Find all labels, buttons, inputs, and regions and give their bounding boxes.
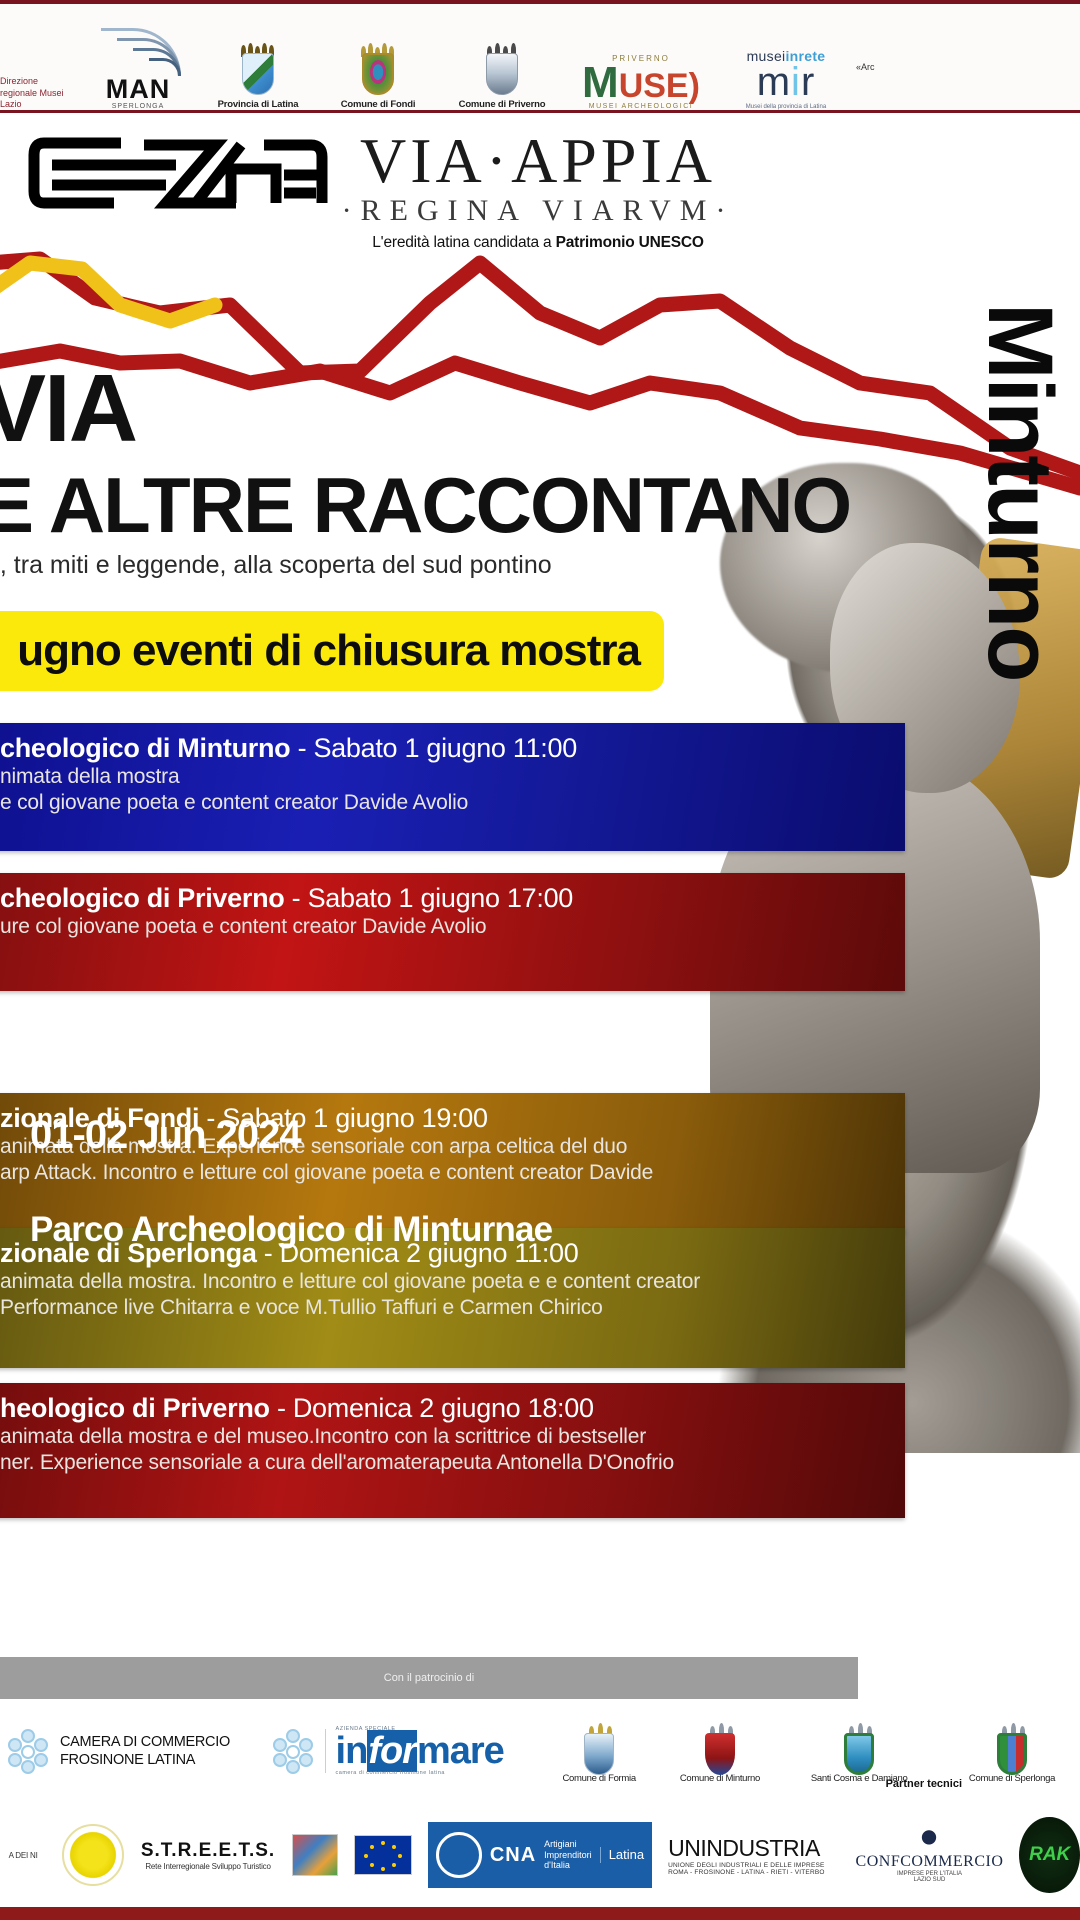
event-desc-line: Performance live Chitarra e voce M.Tulli… xyxy=(0,1295,905,1321)
via-appia-line1: VIA·APPIA xyxy=(278,131,798,192)
event-venue: heologico di Priverno xyxy=(0,1393,270,1423)
unindustria-wordmark: UNINDUSTRIA xyxy=(668,1835,839,1862)
cna-line1: Artigiani xyxy=(544,1839,592,1850)
logo-camera-di-commercio: CAMERA DI COMMERCIO FROSINONE LATINA xyxy=(6,1729,259,1773)
overlay-date-label: 01-02 Jun 2024 xyxy=(30,1113,301,1158)
event-desc-line: animata della mostra. Incontro e letture… xyxy=(0,1269,905,1295)
edge-cut-text: «Arc xyxy=(856,62,875,72)
eagle-icon xyxy=(912,1827,946,1853)
partner-tecnici-label: Partner tecnici xyxy=(886,1778,962,1790)
rak-wordmark: RAK xyxy=(1029,1844,1070,1866)
logo-european-union xyxy=(354,1835,412,1875)
crest-icon xyxy=(992,1719,1032,1771)
crest-icon xyxy=(479,39,525,97)
logo-rak: RAK xyxy=(1019,1817,1080,1893)
divider xyxy=(325,1729,326,1773)
cna-wordmark: CNA xyxy=(490,1844,536,1867)
unesco-prefix: L'eredità latina candidata a xyxy=(372,234,555,251)
mir-r: r xyxy=(801,60,815,104)
cna-line2: Imprenditori xyxy=(544,1850,592,1861)
strada-dei-vini-caption: A DEI NI xyxy=(0,1851,46,1860)
top-sponsor-strip: Direzione regionale Musei Lazio MAN SPER… xyxy=(0,0,1080,113)
title-line-2: E ALTRE RACCONTANO xyxy=(0,468,850,542)
inf-mare: mare xyxy=(417,1730,504,1772)
confcommercio-sub2: LAZIO SUD xyxy=(856,1877,1004,1883)
title-subtitle: e, tra miti e leggende, alla scoperta de… xyxy=(0,551,552,580)
logo-informare: AZIENDA SPECIALE informare camera di com… xyxy=(271,1726,533,1776)
globe-icon xyxy=(436,1832,482,1878)
comune-priverno-caption: Comune di Priverno xyxy=(438,99,566,110)
streets-wordmark: S.T.R.E.E.T.S. xyxy=(140,1840,276,1862)
patrocinio-label: Con il patrocinio di xyxy=(384,1672,475,1684)
vertical-city-label: Minturno xyxy=(974,303,1066,680)
logo-regione-lazio xyxy=(292,1834,338,1876)
unesco-bold: Patrimonio UNESCO xyxy=(556,234,704,251)
regione-lazio-icon xyxy=(292,1834,338,1876)
muse-letter-m: M xyxy=(582,63,619,103)
logo-comune-priverno: Comune di Priverno xyxy=(438,39,566,110)
logo-strada-dei-vini: A DEI NI xyxy=(0,1851,46,1860)
muse-letters-use: USE) xyxy=(619,71,700,102)
logo-musei-in-rete: museiinrete mir Musei della provincia di… xyxy=(716,48,856,110)
logo-santi-cosma-damiano: Santi Cosma e Damiano xyxy=(786,1719,932,1784)
event-desc-line: ure col giovane poeta e content creator … xyxy=(0,914,905,940)
logo-man-sperlonga: MAN SPERLONGA xyxy=(78,24,198,110)
event-row-priverno-sabato: cheologico di Priverno - Sabato 1 giugno… xyxy=(0,873,905,991)
event-row-minturno-sabato: cheologico di Minturno - Sabato 1 giugno… xyxy=(0,723,905,851)
mir-i: i xyxy=(791,60,801,104)
title-line-1: VIA xyxy=(0,363,136,454)
e-zine-logo xyxy=(26,135,336,210)
unindustria-sub1: UNIONE DEGLI INDUSTRIALI E DELLE IMPRESE xyxy=(668,1862,839,1869)
yellow-banner-text: ugno eventi di chiusura mostra xyxy=(17,626,640,676)
streets-caption: Rete Interregionale Sviluppo Turistico xyxy=(140,1862,276,1871)
poster-body: VIA·APPIA ·REGINA VIARVM· L'eredità lati… xyxy=(0,113,1080,1803)
event-desc-line: ner. Experience sensoriale a cura dell'a… xyxy=(0,1450,905,1476)
overlay-place-label: Parco Archeologico di Minturnae xyxy=(30,1210,552,1250)
cna-tagline: Artigiani Imprenditori d'Italia xyxy=(544,1839,592,1871)
provincia-latina-caption: Provincia di Latina xyxy=(198,99,318,110)
logo-streets: S.T.R.E.E.T.S. Rete Interregionale Svilu… xyxy=(140,1840,276,1871)
unindustria-sub2: ROMA - FROSINONE - LATINA - RIETI - VITE… xyxy=(668,1869,839,1876)
crest-icon xyxy=(355,39,401,97)
via-appia-wordmark: VIA·APPIA ·REGINA VIARVM· L'eredità lati… xyxy=(278,131,798,252)
event-desc-line: e col giovane poeta e content creator Da… xyxy=(0,790,905,816)
logo-comune-fondi: Comune di Fondi xyxy=(318,39,438,110)
event-when: - Sabato 1 giugno 17:00 xyxy=(284,883,573,913)
cc-line1: CAMERA DI COMMERCIO xyxy=(60,1733,230,1751)
sun-icon xyxy=(62,1824,124,1886)
logo-unindustria: UNINDUSTRIA UNIONE DEGLI INDUSTRIALI E D… xyxy=(668,1835,839,1876)
logo-confcommercio: CONFCOMMERCIO IMPRESE PER L'ITALIA LAZIO… xyxy=(856,1827,1004,1883)
event-desc-line: nimata della mostra xyxy=(0,764,905,790)
ministry-label: Direzione regionale Musei Lazio xyxy=(0,76,70,110)
logo-comune-sperlonga: Comune di Sperlonga xyxy=(944,1719,1080,1784)
ministry-logo: Direzione regionale Musei Lazio xyxy=(0,76,78,110)
logo-sun xyxy=(62,1824,124,1886)
inf-for: for xyxy=(367,1730,417,1772)
event-row-priverno-domenica: heologico di Priverno - Domenica 2 giugn… xyxy=(0,1383,905,1518)
informare-wordmark: informare xyxy=(336,1732,504,1770)
flower-icon xyxy=(271,1729,315,1773)
event-heading: heologico di Priverno - Domenica 2 giugn… xyxy=(0,1393,905,1424)
crest-icon xyxy=(700,1719,740,1771)
bottom-accent-bar xyxy=(0,1907,1080,1920)
man-subtitle: SPERLONGA xyxy=(78,103,198,110)
mir-m: m xyxy=(757,60,791,104)
logo-comune-formia: Comune di Formia xyxy=(545,1719,654,1784)
mir-bottom-label: Musei della provincia di Latina xyxy=(716,104,856,110)
cc-line2: FROSINONE LATINA xyxy=(60,1751,230,1769)
event-desc-line: arp Attack. Incontro e letture col giova… xyxy=(0,1160,905,1186)
man-wordmark: MAN xyxy=(78,76,198,103)
event-heading: cheologico di Minturno - Sabato 1 giugno… xyxy=(0,733,905,764)
via-appia-line2: ·REGINA VIARVM· xyxy=(278,194,798,228)
logo-priverno-muse: PRIVERNO MUSE) MUSEI ARCHEOLOGICI xyxy=(566,54,716,110)
man-arc-icon xyxy=(95,24,181,76)
crest-icon xyxy=(579,1719,619,1771)
eu-flag-icon xyxy=(354,1835,412,1875)
logo-comune-minturno: Comune di Minturno xyxy=(666,1719,775,1784)
flower-icon xyxy=(6,1729,50,1773)
event-venue: cheologico di Priverno xyxy=(0,883,284,913)
logo-provincia-latina: Provincia di Latina xyxy=(198,39,318,110)
event-heading: cheologico di Priverno - Sabato 1 giugno… xyxy=(0,883,905,914)
comune-fondi-caption: Comune di Fondi xyxy=(318,99,438,110)
event-desc-line: animata della mostra e del museo.Incontr… xyxy=(0,1424,905,1450)
cna-region: Latina xyxy=(600,1847,644,1863)
patrocinio-bar: Con il patrocinio di xyxy=(0,1657,858,1699)
event-when: - Sabato 1 giugno 11:00 xyxy=(290,733,577,763)
event-venue: cheologico di Minturno xyxy=(0,733,290,763)
yellow-banner: ugno eventi di chiusura mostra xyxy=(0,611,664,691)
confcommercio-wordmark: CONFCOMMERCIO xyxy=(856,1853,1004,1871)
via-appia-unesco-line: L'eredità latina candidata a Patrimonio … xyxy=(278,234,798,252)
cna-line3: d'Italia xyxy=(544,1860,592,1871)
crest-icon xyxy=(839,1719,879,1771)
sponsors-row-2: A DEI NI S.T.R.E.E.T.S. Rete Interregion… xyxy=(0,1803,1080,1907)
mir-wordmark: mir xyxy=(716,64,856,100)
logo-cna: CNA Artigiani Imprenditori d'Italia Lati… xyxy=(428,1822,652,1888)
camera-di-commercio-text: CAMERA DI COMMERCIO FROSINONE LATINA xyxy=(60,1733,230,1769)
event-when: - Domenica 2 giugno 18:00 xyxy=(270,1393,594,1423)
inf-in: in xyxy=(336,1730,368,1772)
crest-icon xyxy=(235,39,281,97)
